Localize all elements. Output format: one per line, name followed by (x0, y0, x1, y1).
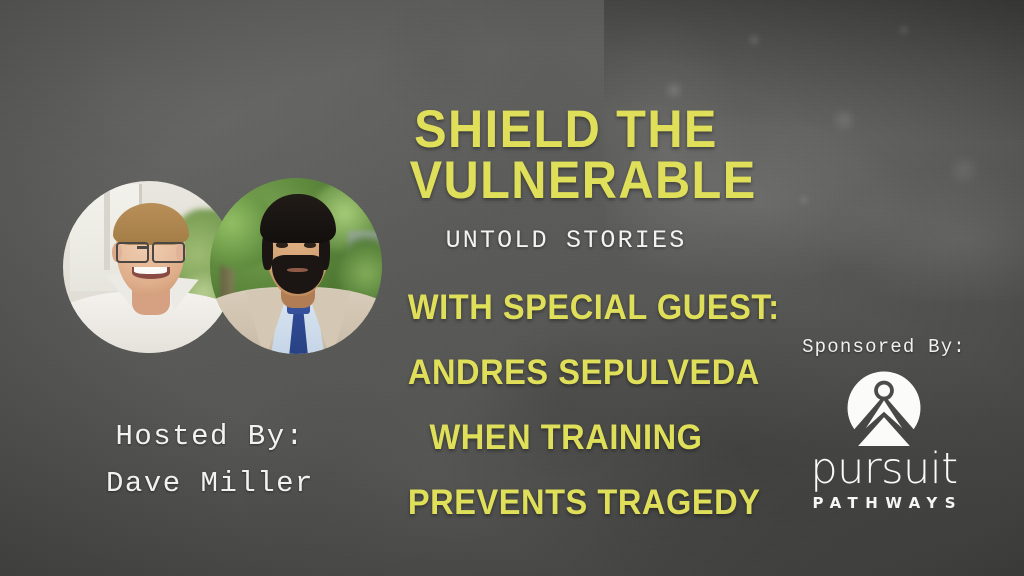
sponsor-brand-sub: PATHWAYS (744, 494, 1024, 512)
guest-line-label: WITH SPECIAL GUEST: (408, 288, 724, 328)
host-credit-label: Hosted By: (0, 414, 420, 461)
sponsor-block: Sponsored By: (744, 336, 1024, 512)
host-credit: Hosted By: Dave Miller (0, 414, 420, 508)
center-text-column: SHIELD THE VULNERABLE UNTOLD STORIES WIT… (396, 0, 736, 576)
sponsor-brand-name: pursuit (744, 448, 1024, 491)
guest-line-topic-2: PREVENTS TRAGEDY (408, 483, 724, 523)
host-name: Dave Miller (0, 461, 420, 508)
show-title-line-2: VULNERABLE (410, 155, 723, 206)
guest-headshot-avatar (210, 178, 382, 354)
guest-line-topic-1: WHEN TRAINING (408, 418, 724, 458)
guest-line-name: ANDRES SEPULVEDA (408, 353, 724, 393)
sponsor-label: Sponsored By: (744, 336, 1024, 358)
guest-info: WITH SPECIAL GUEST: ANDRES SEPULVEDA WHE… (408, 288, 724, 523)
show-subtitle: UNTOLD STORIES (396, 226, 736, 255)
guest-portrait-illustration (210, 178, 382, 354)
pursuit-summit-icon (744, 370, 1024, 446)
show-title-line-1: SHIELD THE (410, 104, 723, 155)
show-title: SHIELD THE VULNERABLE (410, 104, 723, 207)
podcast-title-card: Hosted By: Dave Miller SHIELD THE VULNER… (0, 0, 1024, 576)
headshot-group (0, 0, 420, 400)
